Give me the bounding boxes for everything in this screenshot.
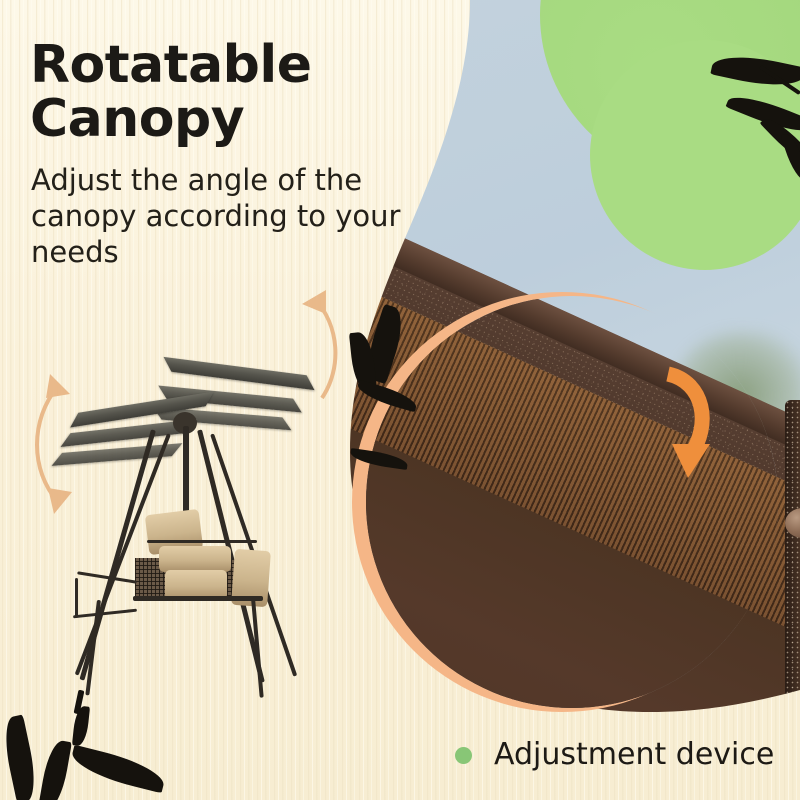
side-tray-post [75,578,78,618]
headline-line-1: Rotatable [30,38,410,92]
page-title: Rotatable Canopy [30,38,410,146]
bullet-dot-icon [455,747,472,764]
frame-leg-rear-left [75,433,171,675]
caption-label: Adjustment device [494,738,774,772]
circular-photo-window [366,296,778,708]
canopy-position-1b [163,357,314,390]
seat-cushion-seat [159,546,231,572]
headline-line-2: Canopy [30,92,410,146]
side-tray-arm-bottom [73,609,137,619]
seat-rail [133,596,263,601]
seat-rail-upper [147,540,257,543]
support-post-dark [785,400,800,730]
feature-panel: Rotatable Canopy Adjust the angle of the… [0,0,800,800]
caption-row: Adjustment device [455,738,774,772]
swing-illustration [55,330,345,700]
subtitle: Adjust the angle of the canopy according… [31,162,421,270]
